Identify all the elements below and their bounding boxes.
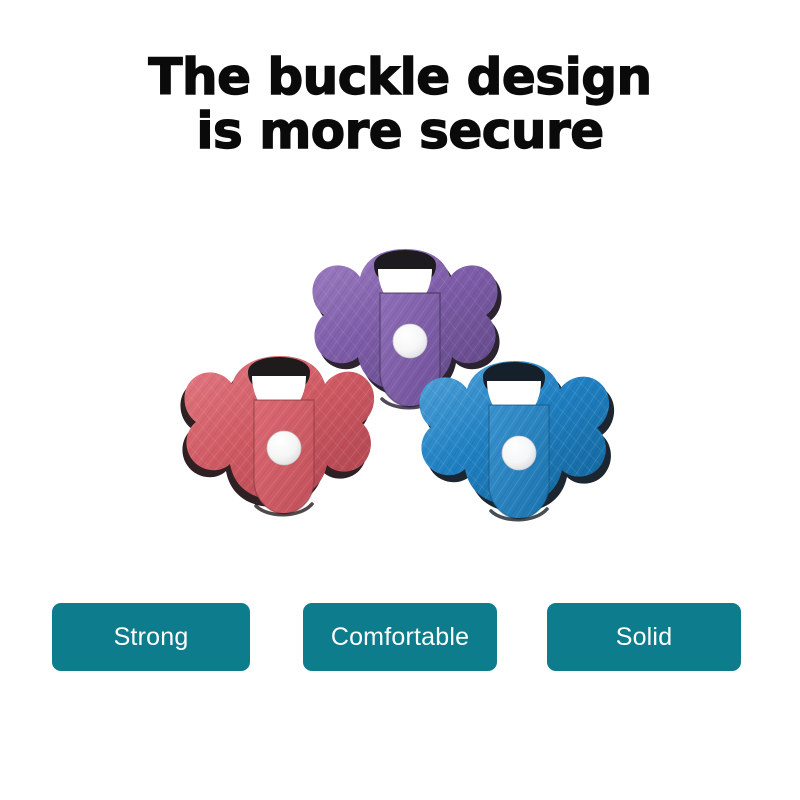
product-clip-blue — [402, 345, 632, 545]
feature-button-strong[interactable]: Strong — [52, 603, 250, 671]
feature-button-group: Strong Comfortable Solid — [0, 603, 800, 675]
product-clip-red — [168, 340, 398, 540]
feature-button-comfortable[interactable]: Comfortable — [303, 603, 497, 671]
page-title-line-1: The buckle design — [0, 50, 800, 104]
page-title: The buckle design is more secure — [0, 50, 800, 158]
product-image — [150, 235, 650, 555]
product-banner: The buckle design is more secure — [0, 0, 800, 800]
feature-button-solid[interactable]: Solid — [547, 603, 741, 671]
page-title-line-2: is more secure — [0, 104, 800, 158]
